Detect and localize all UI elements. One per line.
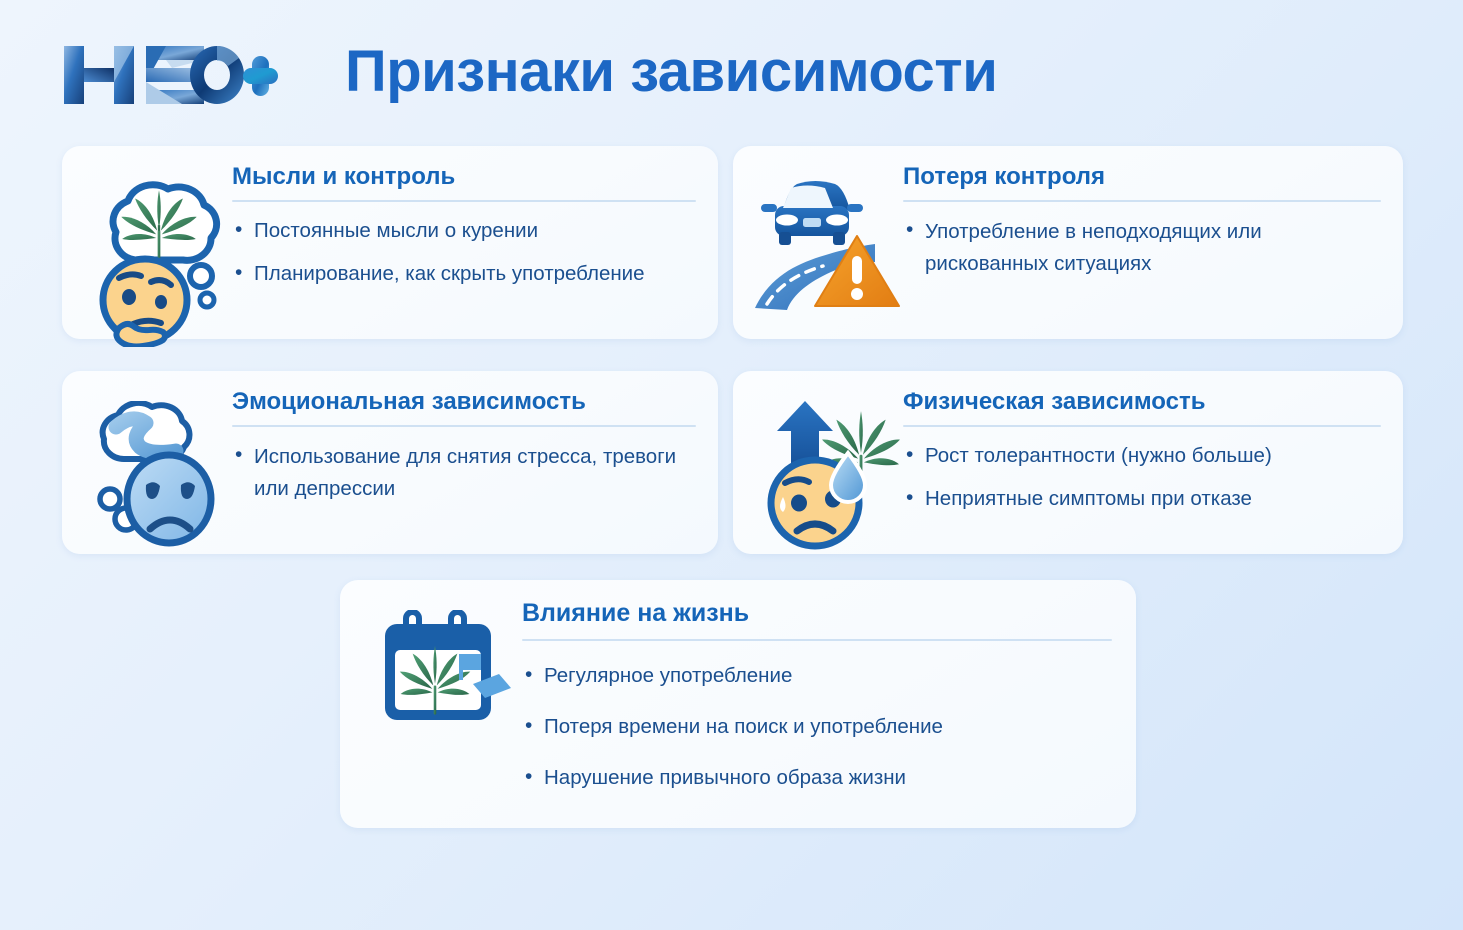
card-impact-on-life: Влияние на жизнь Регулярное употребление…: [340, 580, 1136, 828]
page-title: Признаки зависимости: [345, 38, 997, 105]
list-item: Регулярное употребление: [522, 661, 1112, 690]
thinking-face-cannabis-thought-bubble-icon: [82, 172, 232, 347]
card-physical-dependence: Физическая зависимость Рост толерантност…: [733, 371, 1403, 554]
sweating-face-up-arrow-cannabis-icon: [753, 393, 903, 551]
card-heading: Эмоциональная зависимость: [232, 389, 696, 415]
list-item: Неприятные симптомы при отказе: [903, 484, 1381, 513]
bullet-list: Рост толерантности (нужно больше) Неприя…: [903, 441, 1381, 512]
card-body: Мысли и контроль Постоянные мысли о куре…: [232, 164, 696, 288]
card-heading: Потеря контроля: [903, 164, 1381, 190]
card-divider: [903, 200, 1381, 202]
list-item: Постоянные мысли о курении: [232, 216, 696, 245]
card-divider: [232, 425, 696, 427]
card-divider: [522, 639, 1112, 641]
card-thoughts-and-control: Мысли и контроль Постоянные мысли о куре…: [62, 146, 718, 339]
bullet-list: Использование для снятия стресса, тревог…: [232, 441, 696, 503]
bullet-list: Постоянные мысли о курении Планирование,…: [232, 216, 696, 287]
card-loss-of-control: Потеря контроля Употребление в неподходя…: [733, 146, 1403, 339]
list-item: Потеря времени на поиск и употребление: [522, 712, 1112, 741]
list-item: Нарушение привычного образа жизни: [522, 763, 1112, 792]
neo-plus-logo: [62, 42, 278, 108]
sad-blue-face-thought-cloud-icon: [82, 401, 232, 551]
calendar-cannabis-leaf-icon: [372, 610, 522, 728]
card-heading: Влияние на жизнь: [522, 600, 1112, 628]
list-item: Планирование, как скрыть употребление: [232, 259, 696, 288]
list-item: Рост толерантности (нужно больше): [903, 441, 1381, 470]
card-emotional-dependence: Эмоциональная зависимость Использование …: [62, 371, 718, 554]
list-item: Употребление в неподходящих или рискован…: [903, 216, 1381, 278]
card-body: Физическая зависимость Рост толерантност…: [903, 389, 1381, 513]
card-divider: [903, 425, 1381, 427]
list-item: Использование для снятия стресса, тревог…: [232, 441, 696, 503]
card-body: Эмоциональная зависимость Использование …: [232, 389, 696, 504]
card-body: Влияние на жизнь Регулярное употребление…: [522, 600, 1112, 814]
card-divider: [232, 200, 696, 202]
card-body: Потеря контроля Употребление в неподходя…: [903, 164, 1381, 279]
card-heading: Мысли и контроль: [232, 164, 696, 190]
bullet-list: Употребление в неподходящих или рискован…: [903, 216, 1381, 278]
car-road-warning-triangle-icon: [753, 170, 903, 330]
page-header: Признаки зависимости: [0, 0, 1463, 140]
bullet-list: Регулярное употребление Потеря времени н…: [522, 661, 1112, 792]
card-heading: Физическая зависимость: [903, 389, 1381, 415]
